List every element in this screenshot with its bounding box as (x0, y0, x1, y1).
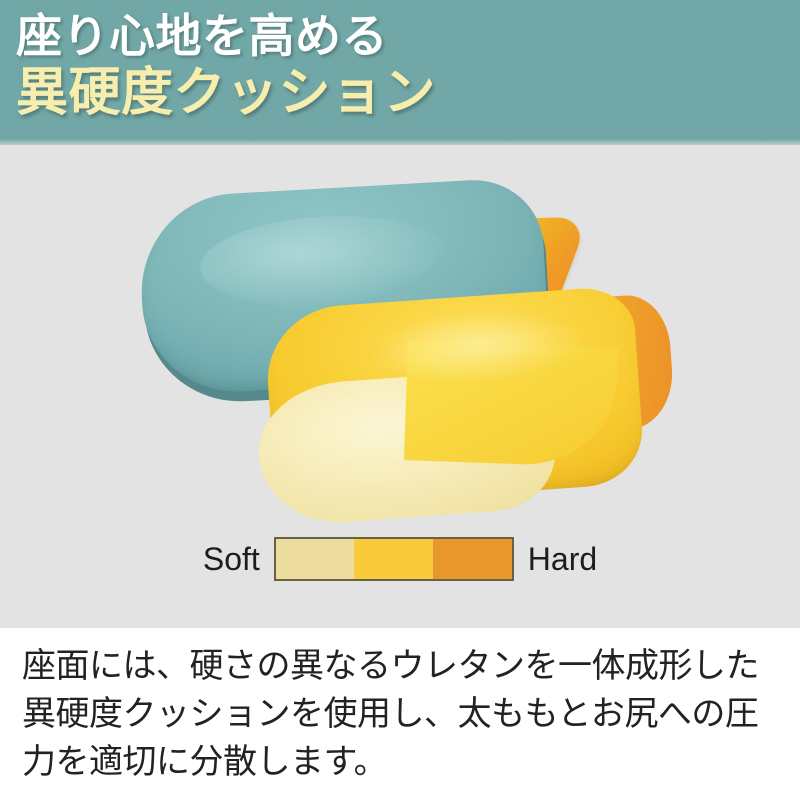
header-banner: 座り心地を高める 異硬度クッション (0, 0, 800, 145)
product-feature-panel: 座り心地を高める 異硬度クッション Soft (0, 0, 800, 800)
hardness-gradient-bar (274, 537, 514, 581)
legend-hard-label: Hard (528, 541, 597, 577)
illustration-stage: Soft Hard (0, 145, 800, 628)
legend-segment-medium (354, 539, 433, 579)
legend-soft-label: Soft (203, 541, 260, 577)
caption-line-1: 座面には、硬さの異なるウレタンを一体成形した (22, 642, 778, 690)
caption-line-2: 異硬度クッションを使用し、太ももとお尻への圧 (22, 690, 778, 738)
lower-foam-cushion (248, 277, 681, 536)
caption-block: 座面には、硬さの異なるウレタンを一体成形した 異硬度クッションを使用し、太ももと… (0, 628, 800, 800)
hardness-legend: Soft Hard (0, 537, 800, 581)
legend-segment-hard (433, 539, 512, 579)
header-title-line-1: 座り心地を高める (16, 8, 388, 64)
header-title-line-2: 異硬度クッション (16, 62, 436, 124)
legend-segment-soft (276, 539, 355, 579)
caption-line-3: 力を適切に分散します。 (22, 738, 778, 786)
